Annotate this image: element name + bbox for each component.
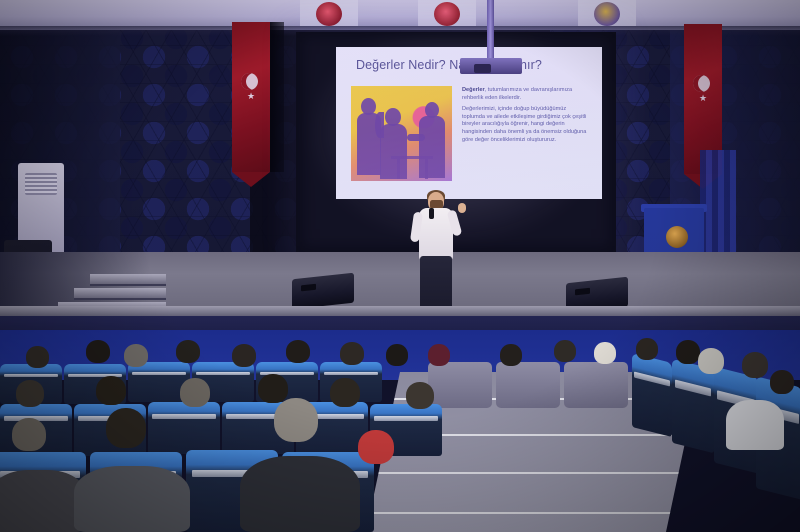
flag-cloth: ★ [232, 22, 270, 172]
step-middle [74, 288, 166, 300]
audience-head [180, 378, 210, 407]
audience-head [742, 352, 768, 378]
speaker-legs [420, 256, 452, 312]
slide-lead-term: Değerler [462, 87, 485, 93]
audience-head [26, 346, 49, 368]
audience-head [86, 340, 110, 363]
crescent-icon [693, 75, 710, 92]
speaker-right-hand [458, 203, 466, 213]
audience-head [594, 342, 616, 364]
wall-emblem-icon-3 [594, 2, 620, 26]
handheld-microphone [429, 208, 434, 219]
institution-emblem-icon [666, 226, 688, 248]
audience-head [176, 340, 200, 363]
audience-head [330, 378, 360, 407]
audience-head [358, 430, 394, 464]
audience-head [286, 340, 310, 363]
auditorium-photo: ★ ★ Değerler Nedir? Nasıl Gruplanır? Değ [0, 0, 800, 532]
audience-head [96, 376, 126, 405]
flag-shadow [270, 22, 284, 172]
monitor-grille [301, 283, 316, 291]
step-nosing [370, 512, 670, 514]
audience-shoulders [240, 456, 360, 532]
ceiling-projector [460, 58, 522, 74]
audience-shoulders [74, 466, 190, 532]
audience-head [386, 344, 408, 366]
audience-head [698, 348, 724, 374]
audience-head [340, 342, 364, 365]
audience-head [406, 382, 434, 409]
audience-head [232, 344, 256, 367]
empty-seat [564, 362, 628, 408]
slide-paragraph-1: Değerler, tutumlarımıza ve davranışlarım… [462, 87, 590, 102]
empty-seat [428, 362, 492, 408]
audience-head [274, 398, 318, 442]
slide-body-text: Değerler, tutumlarımıza ve davranışlarım… [462, 87, 590, 148]
empty-seat [496, 362, 560, 408]
audience-head [124, 344, 148, 367]
projector-lens-icon [474, 64, 491, 73]
wall-emblem-icon-2 [434, 2, 460, 26]
crescent-icon [241, 73, 258, 90]
star-icon: ★ [699, 95, 706, 102]
audience-seat [632, 353, 672, 437]
audience-head [636, 338, 658, 360]
audience-head [106, 408, 146, 448]
step-nosing [378, 472, 678, 474]
monitor-grille [575, 287, 590, 295]
audience-head [258, 374, 288, 403]
slide-paragraph-2: Değerlerimizi, içinde doğup büyüdüğümüz … [462, 106, 590, 144]
step-upper [90, 274, 166, 286]
audience-head [554, 340, 576, 362]
audience-seat [148, 402, 220, 454]
audience-head [16, 380, 44, 407]
audience-head [428, 344, 450, 366]
audience-shoulders [726, 400, 784, 450]
projector-mount-pole [487, 0, 494, 62]
star-icon: ★ [247, 93, 254, 100]
audience-head [676, 340, 700, 364]
slide-photo [351, 86, 452, 181]
audience-head [12, 418, 46, 451]
audience-head [500, 344, 522, 366]
ac-vent-grille [25, 173, 57, 195]
turkish-flag-banner-left: ★ [232, 22, 270, 172]
wall-emblem-icon-1 [316, 2, 342, 26]
audience-head [770, 370, 794, 394]
